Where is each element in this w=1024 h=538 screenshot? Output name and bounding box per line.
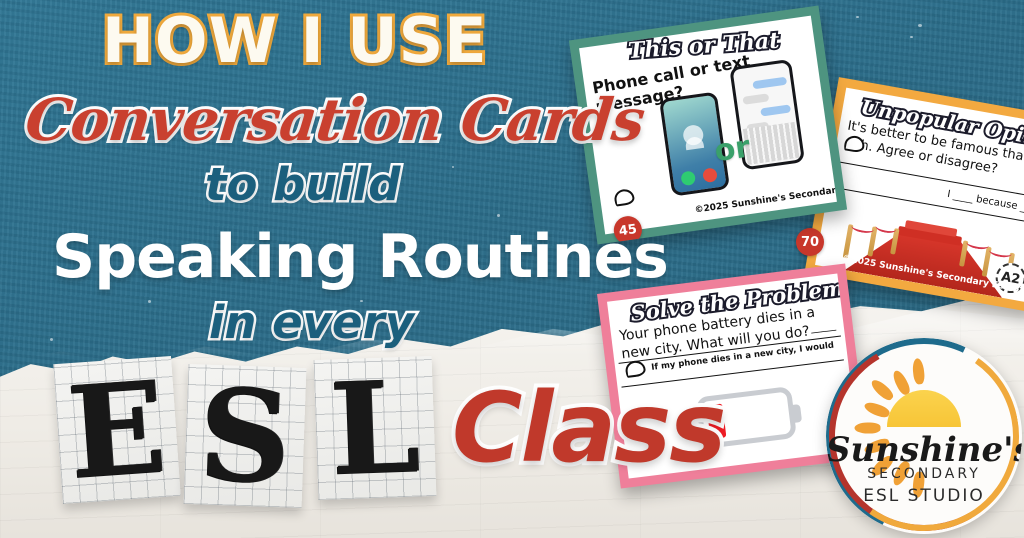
block-letter-glyph: S	[198, 380, 293, 491]
or-connector-label: or	[712, 130, 752, 170]
block-letter-l: L	[314, 356, 437, 500]
paint-speck	[918, 24, 922, 27]
decline-call-icon	[702, 167, 718, 183]
chat-bubble	[742, 93, 769, 105]
block-letter-s: S	[184, 364, 307, 508]
paint-speck	[497, 214, 500, 217]
block-letter-glyph: E	[65, 373, 168, 488]
paint-speck	[148, 300, 151, 303]
card-face: Unpopular Opinions It's better to be fam…	[815, 88, 1024, 303]
headline-line-4: Speaking Routines	[52, 222, 668, 292]
headline-line-2: Conversation Cards	[22, 86, 647, 154]
paint-speck	[910, 36, 913, 38]
headline-line-7: Class	[452, 372, 724, 484]
headline-line-5: in every	[209, 296, 414, 349]
paint-speck	[856, 16, 859, 18]
accept-call-icon	[680, 170, 696, 186]
poster-canvas: This or That Phone call or text message?…	[0, 0, 1024, 538]
block-letter-glyph: L	[329, 372, 421, 483]
caller-avatar-icon	[682, 124, 705, 147]
chat-bubble	[752, 77, 787, 90]
paint-speck	[50, 338, 53, 341]
logo-brand-name: Sunshine's	[826, 430, 1022, 470]
paint-speck	[452, 166, 454, 168]
brand-logo[interactable]: Sunshine's SECONDARY ESL STUDIO	[826, 338, 1022, 534]
speech-bubble-icon	[843, 134, 865, 153]
headline-line-1: HOW I USE	[102, 4, 488, 77]
chat-bubble	[760, 104, 791, 116]
block-letter-e: E	[53, 356, 180, 504]
headline-line-3: to build	[205, 158, 400, 211]
speech-bubble-icon	[613, 188, 635, 207]
logo-line-2: SECONDARY	[826, 466, 1022, 482]
card-number-badge: 70	[796, 228, 824, 256]
logo-line-3: ESL STUDIO	[826, 486, 1022, 506]
